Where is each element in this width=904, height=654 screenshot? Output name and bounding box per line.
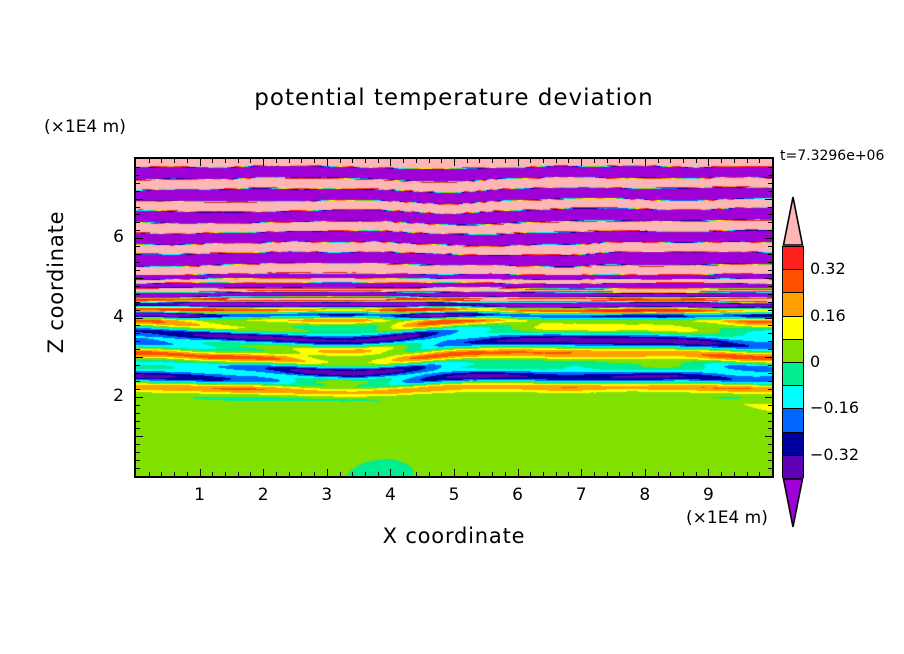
z-tick-right bbox=[765, 436, 772, 437]
x-tick bbox=[238, 472, 239, 476]
colorbar-bands bbox=[782, 246, 804, 478]
x-tick bbox=[568, 472, 569, 476]
page-title: potential temperature deviation bbox=[134, 85, 774, 111]
x-tick bbox=[276, 472, 277, 476]
x-tick-top bbox=[683, 159, 684, 163]
x-tick-top bbox=[174, 159, 175, 163]
x-tick bbox=[683, 472, 684, 476]
z-tick-right bbox=[768, 333, 772, 334]
z-tick-right bbox=[768, 230, 772, 231]
x-tick-label: 5 bbox=[434, 485, 474, 505]
x-tick-top bbox=[263, 159, 264, 166]
x-tick-label: 4 bbox=[370, 485, 410, 505]
x-tick bbox=[301, 472, 302, 476]
z-tick bbox=[136, 325, 140, 326]
colorbar-under-cap bbox=[782, 478, 804, 528]
z-tick-right bbox=[768, 222, 772, 223]
x-tick bbox=[429, 472, 430, 476]
x-tick-label: 1 bbox=[180, 485, 220, 505]
x-tick-top bbox=[632, 159, 633, 163]
x-tick-top bbox=[670, 159, 671, 163]
z-tick-right bbox=[768, 468, 772, 469]
z-tick bbox=[136, 207, 140, 208]
x-tick bbox=[721, 472, 722, 476]
z-tick bbox=[136, 381, 140, 382]
z-tick-right bbox=[768, 365, 772, 366]
x-tick bbox=[581, 469, 582, 476]
x-tick bbox=[734, 472, 735, 476]
z-tick-right bbox=[768, 452, 772, 453]
colorbar-over-cap bbox=[782, 196, 804, 246]
z-tick bbox=[136, 444, 140, 445]
z-tick-right bbox=[768, 167, 772, 168]
z-tick bbox=[136, 183, 140, 184]
z-tick-right bbox=[768, 254, 772, 255]
x-axis-unit-label: (×1E4 m) bbox=[686, 508, 768, 528]
colorbar-band bbox=[783, 270, 803, 293]
z-tick bbox=[136, 191, 140, 192]
x-tick-top bbox=[429, 159, 430, 163]
colorbar-band bbox=[783, 386, 803, 409]
x-tick bbox=[594, 472, 595, 476]
x-tick bbox=[212, 472, 213, 476]
z-tick-right bbox=[768, 325, 772, 326]
x-tick-top bbox=[479, 159, 480, 163]
z-tick-right bbox=[768, 310, 772, 311]
x-tick-top bbox=[314, 159, 315, 163]
x-tick bbox=[454, 469, 455, 476]
x-tick-top bbox=[149, 159, 150, 163]
x-tick bbox=[327, 469, 328, 476]
x-tick-top bbox=[607, 159, 608, 163]
x-tick bbox=[352, 472, 353, 476]
z-tick-right bbox=[768, 262, 772, 263]
colorbar-band bbox=[783, 293, 803, 316]
z-tick bbox=[136, 357, 143, 358]
z-tick bbox=[136, 452, 140, 453]
colorbar: 0.320.160−0.16−0.32 bbox=[782, 196, 804, 482]
x-tick-top bbox=[594, 159, 595, 163]
x-tick bbox=[479, 472, 480, 476]
contour-plot-area bbox=[134, 157, 774, 478]
x-tick-top bbox=[441, 159, 442, 163]
x-tick bbox=[505, 472, 506, 476]
z-tick bbox=[136, 310, 140, 311]
z-tick bbox=[136, 222, 140, 223]
x-tick-top bbox=[238, 159, 239, 163]
z-tick bbox=[136, 468, 140, 469]
z-tick bbox=[136, 294, 140, 295]
x-tick-top bbox=[734, 159, 735, 163]
z-tick bbox=[136, 397, 143, 398]
x-tick bbox=[556, 472, 557, 476]
x-tick bbox=[670, 472, 671, 476]
x-tick bbox=[696, 472, 697, 476]
x-tick bbox=[403, 472, 404, 476]
x-tick bbox=[619, 472, 620, 476]
z-tick-right bbox=[768, 421, 772, 422]
x-tick-label: 9 bbox=[688, 485, 728, 505]
z-tick-right bbox=[768, 286, 772, 287]
z-tick-right bbox=[765, 238, 772, 239]
x-tick-top bbox=[276, 159, 277, 163]
x-tick bbox=[632, 472, 633, 476]
x-tick-top bbox=[530, 159, 531, 163]
x-tick bbox=[658, 472, 659, 476]
x-tick-top bbox=[352, 159, 353, 163]
x-tick bbox=[289, 472, 290, 476]
z-tick-label: 4 bbox=[84, 307, 124, 327]
z-tick-label: 6 bbox=[84, 227, 124, 247]
x-tick bbox=[187, 472, 188, 476]
temperature-deviation-field bbox=[136, 159, 772, 476]
z-tick bbox=[136, 302, 140, 303]
x-tick-top bbox=[658, 159, 659, 163]
z-tick-right bbox=[768, 175, 772, 176]
z-tick bbox=[136, 246, 140, 247]
x-tick-top bbox=[416, 159, 417, 163]
z-tick bbox=[136, 175, 140, 176]
z-tick-right bbox=[768, 214, 772, 215]
x-tick bbox=[390, 469, 391, 476]
z-tick bbox=[136, 365, 140, 366]
colorbar-tick-label: −0.16 bbox=[810, 398, 859, 417]
x-tick-top bbox=[759, 159, 760, 163]
z-tick bbox=[136, 230, 140, 231]
x-tick-top bbox=[327, 159, 328, 166]
z-tick-right bbox=[768, 405, 772, 406]
x-tick-top bbox=[619, 159, 620, 163]
z-tick bbox=[136, 460, 140, 461]
z-tick bbox=[136, 413, 140, 414]
z-tick bbox=[136, 436, 143, 437]
x-tick-label: 8 bbox=[625, 485, 665, 505]
x-tick-top bbox=[340, 159, 341, 163]
z-tick-right bbox=[768, 246, 772, 247]
x-tick bbox=[708, 469, 709, 476]
x-tick bbox=[225, 472, 226, 476]
z-tick bbox=[136, 286, 140, 287]
z-tick bbox=[136, 333, 140, 334]
x-tick-top bbox=[378, 159, 379, 163]
x-tick-top bbox=[543, 159, 544, 163]
x-tick-label: 2 bbox=[243, 485, 283, 505]
z-tick-right bbox=[765, 318, 772, 319]
x-tick bbox=[314, 472, 315, 476]
z-tick bbox=[136, 254, 140, 255]
colorbar-band bbox=[783, 363, 803, 386]
x-tick bbox=[441, 472, 442, 476]
x-tick bbox=[200, 469, 201, 476]
z-tick bbox=[136, 270, 140, 271]
z-tick bbox=[136, 238, 143, 239]
z-tick bbox=[136, 341, 140, 342]
x-tick-top bbox=[505, 159, 506, 163]
x-tick bbox=[607, 472, 608, 476]
x-tick-label: 6 bbox=[498, 485, 538, 505]
z-tick-right bbox=[768, 349, 772, 350]
z-tick-right bbox=[768, 389, 772, 390]
x-tick-top bbox=[250, 159, 251, 163]
colorbar-band bbox=[783, 409, 803, 432]
x-axis-title: X coordinate bbox=[234, 524, 674, 548]
x-tick-top bbox=[492, 159, 493, 163]
z-tick bbox=[136, 199, 143, 200]
x-tick bbox=[416, 472, 417, 476]
colorbar-band bbox=[783, 317, 803, 340]
x-tick-top bbox=[390, 159, 391, 166]
z-tick-right bbox=[765, 397, 772, 398]
z-tick-right bbox=[768, 373, 772, 374]
x-tick bbox=[174, 472, 175, 476]
x-tick-top bbox=[696, 159, 697, 163]
x-tick bbox=[149, 472, 150, 476]
x-tick bbox=[543, 472, 544, 476]
x-tick-label: 7 bbox=[561, 485, 601, 505]
z-tick-right bbox=[768, 381, 772, 382]
x-tick bbox=[645, 469, 646, 476]
z-tick-right bbox=[768, 428, 772, 429]
x-tick bbox=[250, 472, 251, 476]
colorbar-band bbox=[783, 340, 803, 363]
z-tick-right bbox=[765, 278, 772, 279]
x-tick-top bbox=[645, 159, 646, 166]
colorbar-tick-label: 0 bbox=[810, 352, 820, 371]
z-tick bbox=[136, 278, 143, 279]
colorbar-band bbox=[783, 456, 803, 479]
x-tick-top bbox=[161, 159, 162, 163]
z-tick-right bbox=[765, 199, 772, 200]
x-tick-top bbox=[708, 159, 709, 166]
z-tick-right bbox=[765, 357, 772, 358]
time-stamp: t=7.3296e+06 bbox=[780, 148, 884, 164]
x-tick-top bbox=[301, 159, 302, 163]
figure-canvas: potential temperature deviation (×1E4 m)… bbox=[0, 0, 904, 654]
x-tick-top bbox=[212, 159, 213, 163]
x-tick-top bbox=[747, 159, 748, 163]
x-tick bbox=[518, 469, 519, 476]
z-tick-right bbox=[768, 207, 772, 208]
x-tick bbox=[378, 472, 379, 476]
z-tick-right bbox=[768, 302, 772, 303]
x-tick-top bbox=[568, 159, 569, 163]
z-tick bbox=[136, 349, 140, 350]
z-tick bbox=[136, 373, 140, 374]
z-tick bbox=[136, 167, 140, 168]
z-tick bbox=[136, 262, 140, 263]
y-axis-title: Z coordinate bbox=[44, 182, 68, 382]
x-tick-top bbox=[365, 159, 366, 163]
x-tick bbox=[340, 472, 341, 476]
colorbar-band bbox=[783, 247, 803, 270]
colorbar-tick-label: −0.32 bbox=[810, 445, 859, 464]
x-tick bbox=[467, 472, 468, 476]
z-tick bbox=[136, 428, 140, 429]
z-tick-right bbox=[768, 191, 772, 192]
z-tick bbox=[136, 421, 140, 422]
colorbar-tick-label: 0.16 bbox=[810, 306, 846, 325]
x-tick bbox=[161, 472, 162, 476]
z-tick bbox=[136, 318, 143, 319]
x-tick bbox=[530, 472, 531, 476]
colorbar-band bbox=[783, 433, 803, 456]
z-tick-right bbox=[768, 270, 772, 271]
z-tick-right bbox=[768, 413, 772, 414]
z-tick bbox=[136, 389, 140, 390]
x-tick-top bbox=[200, 159, 201, 166]
x-tick bbox=[365, 472, 366, 476]
z-tick bbox=[136, 214, 140, 215]
y-axis-unit-label: (×1E4 m) bbox=[44, 117, 126, 137]
z-tick-label: 2 bbox=[84, 386, 124, 406]
x-tick-top bbox=[581, 159, 582, 166]
x-tick-top bbox=[467, 159, 468, 163]
z-tick bbox=[136, 405, 140, 406]
x-tick-top bbox=[556, 159, 557, 163]
x-tick-top bbox=[721, 159, 722, 163]
z-tick-right bbox=[768, 460, 772, 461]
x-tick-label: 3 bbox=[307, 485, 347, 505]
x-tick bbox=[492, 472, 493, 476]
x-tick bbox=[263, 469, 264, 476]
x-tick bbox=[759, 472, 760, 476]
colorbar-tick-label: 0.32 bbox=[810, 259, 846, 278]
x-tick-top bbox=[454, 159, 455, 166]
x-tick-top bbox=[225, 159, 226, 163]
z-tick-right bbox=[768, 444, 772, 445]
x-tick-top bbox=[518, 159, 519, 166]
x-tick bbox=[747, 472, 748, 476]
z-tick-right bbox=[768, 183, 772, 184]
z-tick-right bbox=[768, 294, 772, 295]
x-tick-top bbox=[187, 159, 188, 163]
z-tick-right bbox=[768, 341, 772, 342]
x-tick-top bbox=[289, 159, 290, 163]
x-tick-top bbox=[403, 159, 404, 163]
